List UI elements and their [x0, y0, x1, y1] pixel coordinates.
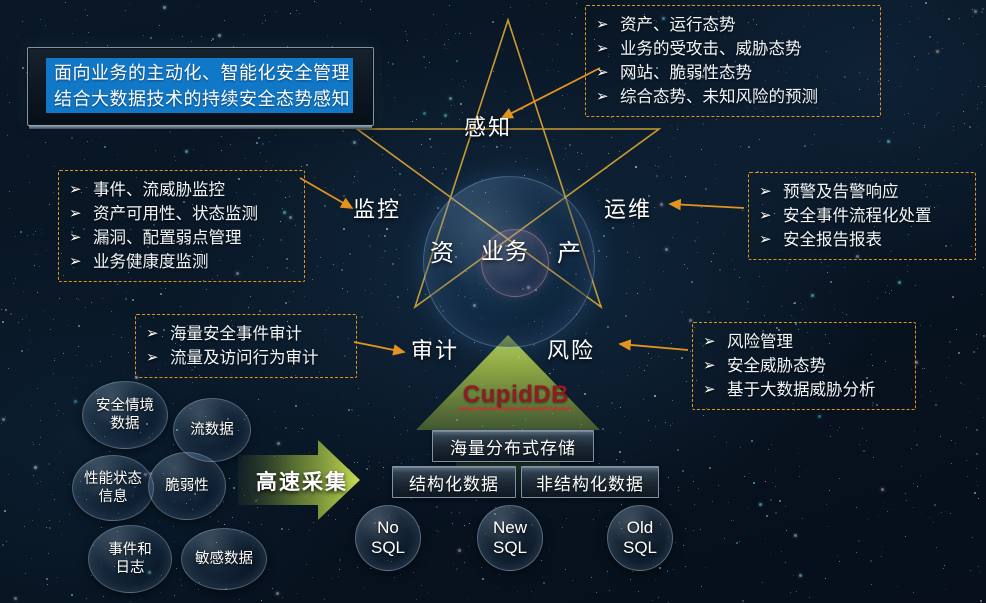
bubble-line-1: 性能状态: [84, 470, 142, 488]
list-item: ➢网站、脆弱性态势: [596, 61, 868, 85]
bubble-line-2: SQL: [371, 538, 405, 558]
list-item: ➢风险管理: [703, 330, 903, 354]
sphere-text-asset-left: 资: [430, 233, 455, 268]
list-item: ➢综合态势、未知风险的预测: [596, 85, 868, 109]
plate-distributed-storage[interactable]: 海量分布式存储: [432, 430, 594, 462]
bubble-line-2: SQL: [623, 538, 657, 558]
list-item: ➢基于大数据威胁分析: [703, 378, 903, 402]
chevron-bullet-icon: ➢: [703, 378, 727, 402]
list-item: ➢安全事件流程化处置: [759, 204, 963, 228]
callout-text: 海量安全事件审计: [170, 322, 302, 346]
bubble-line-1: 敏感数据: [195, 550, 253, 568]
callout-audit[interactable]: ➢海量安全事件审计 ➢流量及访问行为审计: [135, 314, 357, 378]
chevron-bullet-icon: ➢: [69, 202, 93, 226]
callout-text: 安全报告报表: [783, 228, 882, 252]
bubble-line-2: 日志: [116, 559, 145, 577]
connector-audit: [354, 342, 404, 352]
banner-line-2: 结合大数据技术的持续安全态势感知: [54, 86, 347, 112]
bubble-line-1: 安全情境: [96, 397, 154, 415]
chevron-bullet-icon: ➢: [759, 204, 783, 228]
bubble-vulnerability[interactable]: 脆弱性: [148, 452, 226, 520]
list-item: ➢预警及告警响应: [759, 180, 963, 204]
callout-text: 网站、脆弱性态势: [620, 61, 752, 85]
spellcheck-squiggle-underline: [458, 406, 574, 412]
bubble-nosql[interactable]: No SQL: [355, 505, 421, 571]
callout-text: 流量及访问行为审计: [170, 346, 319, 370]
bubble-newsql[interactable]: New SQL: [477, 505, 543, 571]
callout-text: 安全威胁态势: [727, 354, 826, 378]
sphere-text-asset-right: 产: [557, 233, 582, 268]
connector-monitor: [300, 178, 352, 208]
callout-text: 事件、流威胁监控: [93, 178, 225, 202]
callout-monitor[interactable]: ➢事件、流威胁监控 ➢资产可用性、状态监测 ➢漏洞、配置弱点管理 ➢业务健康度监…: [58, 170, 305, 282]
star-label-monitor[interactable]: 监控: [353, 192, 401, 224]
callout-text: 综合态势、未知风险的预测: [620, 85, 818, 109]
chevron-bullet-icon: ➢: [69, 178, 93, 202]
chevron-bullet-icon: ➢: [69, 250, 93, 274]
bubble-performance-status-info[interactable]: 性能状态 信息: [72, 455, 154, 521]
callout-text: 安全事件流程化处置: [783, 204, 932, 228]
banner-line-1: 面向业务的主动化、智能化安全管理: [54, 60, 347, 86]
bubble-line-1: 脆弱性: [165, 477, 209, 495]
plate-unstructured-data[interactable]: 非结构化数据: [521, 466, 659, 498]
plate-structured-data[interactable]: 结构化数据: [392, 466, 516, 498]
callout-text: 资产、运行态势: [620, 13, 736, 37]
bubble-line-1: Old: [627, 518, 653, 538]
bubble-line-1: New: [493, 518, 527, 538]
high-speed-collection-label: 高速采集: [256, 466, 348, 496]
connector-ops: [670, 204, 744, 208]
list-item: ➢漏洞、配置弱点管理: [69, 226, 292, 250]
connector-risk: [620, 344, 688, 350]
list-item: ➢安全威胁态势: [703, 354, 903, 378]
chevron-bullet-icon: ➢: [703, 330, 727, 354]
list-item: ➢资产可用性、状态监测: [69, 202, 292, 226]
callout-text: 业务的受攻击、威胁态势: [620, 37, 802, 61]
callout-text: 资产可用性、状态监测: [93, 202, 258, 226]
bubble-sensitive-data[interactable]: 敏感数据: [181, 528, 267, 590]
slide-canvas: 面向业务的主动化、智能化安全管理 结合大数据技术的持续安全态势感知 ➢资产、运行…: [0, 0, 986, 603]
callout-text: 风险管理: [727, 330, 793, 354]
title-banner: 面向业务的主动化、智能化安全管理 结合大数据技术的持续安全态势感知: [46, 58, 353, 113]
bubble-line-2: SQL: [493, 538, 527, 558]
list-item: ➢资产、运行态势: [596, 13, 868, 37]
chevron-bullet-icon: ➢: [146, 346, 170, 370]
bubble-line-2: 信息: [99, 488, 128, 506]
bubble-events-and-logs[interactable]: 事件和 日志: [88, 525, 172, 593]
list-item: ➢安全报告报表: [759, 228, 963, 252]
bubble-line-1: 流数据: [190, 421, 234, 439]
chevron-bullet-icon: ➢: [703, 354, 727, 378]
chevron-bullet-icon: ➢: [596, 37, 620, 61]
callout-text: 预警及告警响应: [783, 180, 899, 204]
callout-risk[interactable]: ➢风险管理 ➢安全威胁态势 ➢基于大数据威胁分析: [692, 322, 916, 410]
chevron-bullet-icon: ➢: [759, 228, 783, 252]
chevron-bullet-icon: ➢: [596, 13, 620, 37]
chevron-bullet-icon: ➢: [146, 322, 170, 346]
star-label-operations[interactable]: 运维: [604, 192, 652, 224]
bubble-line-1: 事件和: [108, 541, 152, 559]
callout-perception[interactable]: ➢资产、运行态势 ➢业务的受攻击、威胁态势 ➢网站、脆弱性态势 ➢综合态势、未知…: [585, 5, 881, 117]
bubble-line-2: 数据: [111, 415, 140, 433]
list-item: ➢业务健康度监测: [69, 250, 292, 274]
list-item: ➢流量及访问行为审计: [146, 346, 344, 370]
star-label-perception[interactable]: 感知: [464, 110, 512, 142]
bubble-line-1: No: [377, 518, 399, 538]
chevron-bullet-icon: ➢: [596, 85, 620, 109]
list-item: ➢业务的受攻击、威胁态势: [596, 37, 868, 61]
chevron-bullet-icon: ➢: [759, 180, 783, 204]
callout-text: 业务健康度监测: [93, 250, 209, 274]
star-label-audit[interactable]: 审计: [411, 333, 459, 365]
product-name-cupiddb: CupidDB: [456, 381, 576, 409]
list-item: ➢海量安全事件审计: [146, 322, 344, 346]
callout-text: 漏洞、配置弱点管理: [93, 226, 242, 250]
bubble-security-context-data[interactable]: 安全情境 数据: [82, 381, 168, 449]
chevron-bullet-icon: ➢: [69, 226, 93, 250]
list-item: ➢事件、流威胁监控: [69, 178, 292, 202]
star-label-risk[interactable]: 风险: [547, 333, 595, 365]
bubble-oldsql[interactable]: Old SQL: [607, 505, 673, 571]
chevron-bullet-icon: ➢: [596, 61, 620, 85]
callout-text: 基于大数据威胁分析: [727, 378, 876, 402]
sphere-text-business: 业务: [481, 232, 529, 266]
callout-operations[interactable]: ➢预警及告警响应 ➢安全事件流程化处置 ➢安全报告报表: [748, 172, 976, 260]
